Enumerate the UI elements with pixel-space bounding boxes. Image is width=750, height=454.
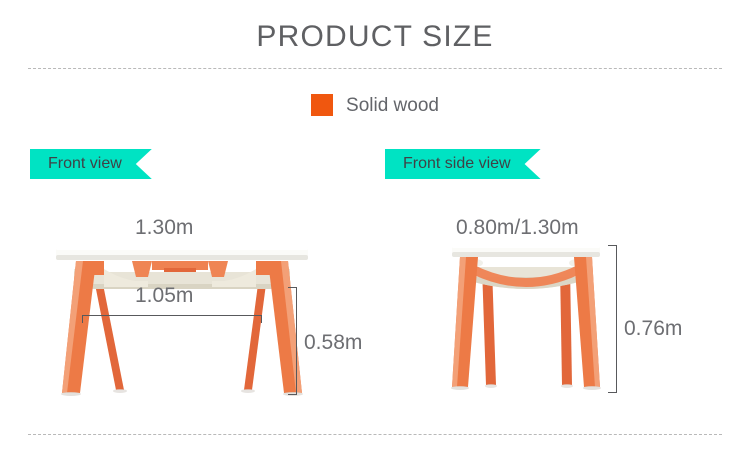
diagram-front-side-view: 0.80m/1.30m — [430, 205, 720, 410]
legend: Solid wood — [0, 94, 750, 116]
dimension-bracket-height — [288, 287, 297, 395]
ribbon-front-side-view-label: Front side view — [403, 156, 511, 172]
ribbon-front-side-view: Front side view — [385, 149, 541, 179]
legend-label: Solid wood — [346, 96, 439, 115]
table-side-view-illustration — [430, 205, 720, 410]
page-title: PRODUCT SIZE — [0, 20, 750, 54]
legend-swatch-icon — [311, 94, 333, 116]
dimension-label-height: 0.58m — [304, 332, 362, 353]
divider-top — [28, 68, 722, 69]
diagram-front-view: 1.30m — [40, 205, 360, 410]
divider-bottom — [28, 434, 722, 435]
dimension-bracket-height — [608, 245, 617, 393]
dimension-label-height: 0.76m — [624, 318, 682, 339]
dimension-bracket-width-inner — [82, 315, 262, 323]
product-size-infographic: PRODUCT SIZE Solid wood Front view Front… — [0, 0, 750, 454]
ribbon-front-view-label: Front view — [48, 156, 122, 172]
table-front-view-illustration — [40, 205, 360, 410]
ribbon-front-view: Front view — [30, 149, 152, 179]
dimension-label-width-inner: 1.05m — [135, 285, 193, 306]
